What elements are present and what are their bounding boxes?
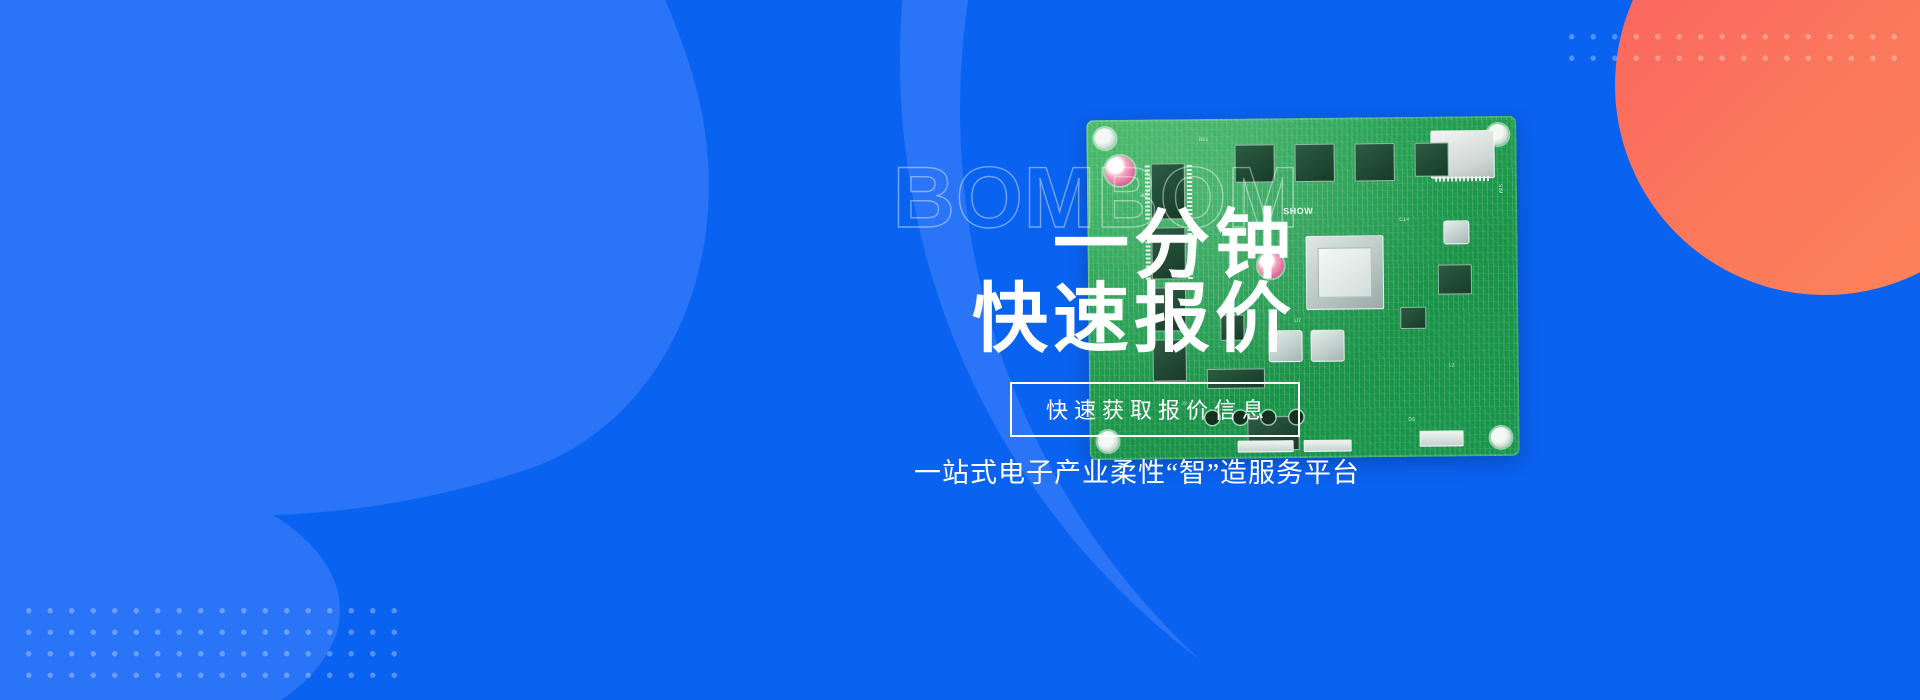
pcb-processor <box>1305 235 1384 310</box>
pcb-silk-sim: SIM <box>1497 184 1503 194</box>
pcb-inductor <box>1310 330 1344 362</box>
dot-grid-bottom-left <box>14 596 399 682</box>
headline: 一分钟 快速报价 <box>740 207 1300 360</box>
pcb-mount-hole <box>1490 427 1511 448</box>
pcb-silk-ref: R21 <box>1198 137 1208 143</box>
pcb-silk-ref: L2 <box>1449 362 1455 368</box>
headline-line-1: 一分钟 <box>740 207 1296 285</box>
pcb-pin-row <box>1435 176 1491 182</box>
tagline: 一站式电子产业柔性“智”造服务平台 <box>740 451 1360 490</box>
banner-copy: BOMBOM 一分钟 快速报价 快速获取报价信息 一站式电子产业柔性“智”造服务… <box>740 155 1300 490</box>
pcb-ic <box>1414 142 1448 176</box>
pcb-ic <box>1354 143 1394 181</box>
pcb-ic <box>1400 307 1426 329</box>
cta-button[interactable]: 快速获取报价信息 <box>1010 382 1300 437</box>
promo-banner: SIM SHOW <box>0 0 1920 700</box>
pcb-connector <box>1420 430 1464 446</box>
headline-line-2: 快速报价 <box>740 281 1296 359</box>
pcb-ic <box>1294 144 1334 182</box>
dot-grid-top-right <box>1557 22 1902 66</box>
pcb-mount-hole <box>1094 128 1115 149</box>
pcb-silk-ref: C14 <box>1399 217 1409 223</box>
pcb-ic <box>1438 264 1472 294</box>
pcb-inductor <box>1443 220 1469 244</box>
pcb-silk-ref: D5 <box>1408 417 1415 423</box>
